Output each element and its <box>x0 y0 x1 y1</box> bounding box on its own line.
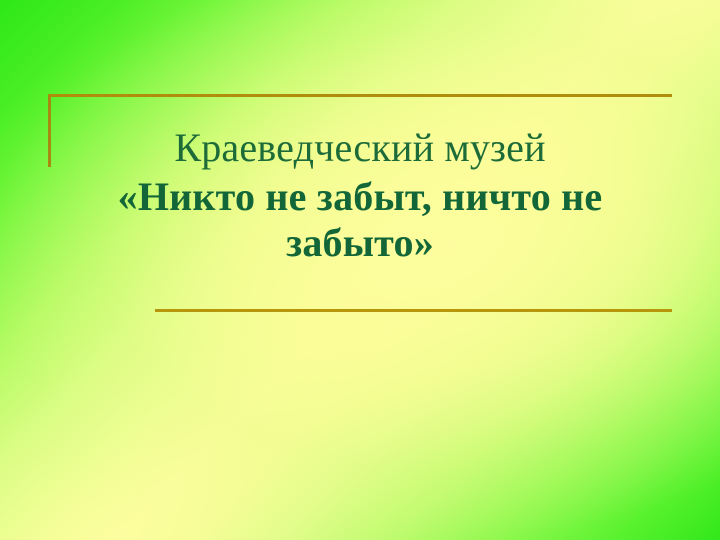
slide-title-block: Краеведческий музей «Никто не забыт, нич… <box>0 128 720 266</box>
slide-title-subtitle-quote: «Никто не забыт, ничто не забыто» <box>60 168 660 266</box>
title-slide: Краеведческий музей «Никто не забыт, нич… <box>0 0 720 540</box>
slide-title-primary: Краеведческий музей <box>0 128 720 168</box>
slide-background-highlight <box>0 0 720 540</box>
horizontal-rule <box>155 309 672 312</box>
